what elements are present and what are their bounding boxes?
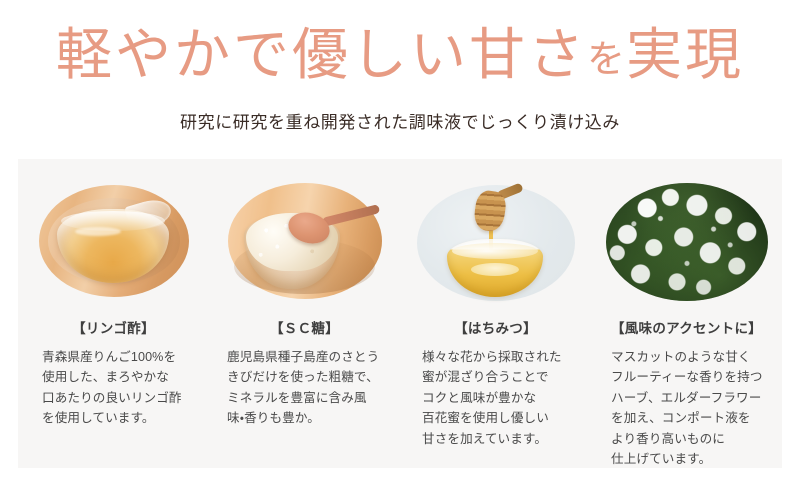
description-line: 鹿児島県種子島産のさとう [227,347,392,367]
page-title-particle: を [587,39,626,81]
description-line: 使用した、まろやかな [42,367,201,387]
description-line: 百花蜜を使用し優しい [422,408,583,428]
page-title-part2: 実現 [626,25,744,87]
description-line: フルーティーな香りを持つ [611,367,774,387]
ingredient-column-apple-vinegar: 【リンゴ酢】 青森県産りんご100%を 使用した、まろやかな 口あたりの良いリン… [18,159,209,468]
description-line: ミネラルを豊富に含み風 [227,388,392,408]
honey-pool-shape [471,263,519,276]
description-line: 様々な花から採取された [422,347,583,367]
ingredient-description: 様々な花から採取された 蜜が混ざり合うことで コクと風味が豊かな 百花蜜を使用し… [408,347,583,449]
ingredient-description: マスカットのような甘く フルーティーな香りを持つ ハーブ、エルダーフラワー を加… [599,347,774,469]
description-line: 蜜が混ざり合うことで [422,367,583,387]
ingredient-description: 青森県産りんご100%を 使用した、まろやかな 口あたりの良いリンゴ酢 を使用し… [26,347,201,429]
ingredient-column-sc-sugar: 【ＳＣ糖】 鹿児島県種子島産のさとう きびだけを使った粗糖で、 ミネラルを豊富に… [209,159,400,468]
blossom-specks-shape [604,171,770,303]
ingredient-title: 【ＳＣ糖】 [217,317,392,337]
honey-photo [413,171,579,303]
description-line: 青森県産りんご100%を [42,347,201,367]
description-line: を加え、コンポート液を [611,408,774,428]
page-title: 軽やかで優しい甘さを実現 [0,26,800,88]
sc-sugar-photo [222,171,388,303]
description-line: マスカットのような甘く [611,347,774,367]
page-subtitle: 研究に研究を重ね開発された調味液でじっくり漬け込み [0,108,800,133]
description-line: 甘さを加えています。 [422,429,583,449]
description-line: 仕上げています。 [611,449,774,469]
description-line: きびだけを使った粗糖で、 [227,367,392,387]
description-line: 口あたりの良いリンゴ酢 [42,388,201,408]
ingredient-title: 【リンゴ酢】 [26,317,201,337]
promo-banner: 軽やかで優しい甘さを実現 研究に研究を重ね開発された調味液でじっくり漬け込み 【… [0,0,800,496]
description-line: ハーブ、エルダーフラワー [611,388,774,408]
ingredients-columns: 【リンゴ酢】 青森県産りんご100%を 使用した、まろやかな 口あたりの良いリン… [18,159,782,468]
page-title-part1: 軽やかで優しい甘さ [56,25,587,87]
description-line: コクと風味が豊かな [422,388,583,408]
liquid-highlight-shape [75,227,121,236]
description-line: を使用しています。 [42,408,201,428]
elderflower-photo [604,171,770,303]
ingredient-title: 【はちみつ】 [408,317,583,337]
description-line: 味・香りも豊か。 [227,408,392,428]
ingredient-description: 鹿児島県種子島産のさとう きびだけを使った粗糖で、 ミネラルを豊富に含み風 味・… [217,347,392,429]
apple-vinegar-photo [31,171,197,303]
ingredient-column-elderflower: 【風味のアクセントに】 マスカットのような甘く フルーティーな香りを持つ ハーブ… [591,159,782,468]
description-line: より香り高いものに [611,429,774,449]
ingredient-column-honey: 【はちみつ】 様々な花から採取された 蜜が混ざり合うことで コクと風味が豊かな … [400,159,591,468]
ingredient-title: 【風味のアクセントに】 [599,317,774,337]
